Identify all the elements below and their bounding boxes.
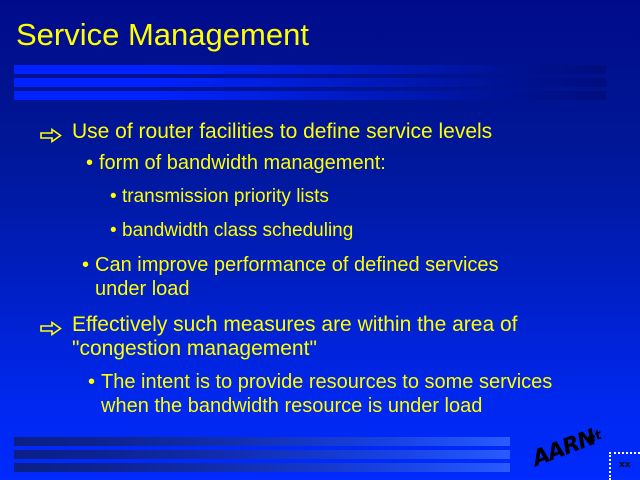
bullet-line-wrap: when the bandwidth resource is under loa… — [101, 394, 482, 418]
bullet-line: transmission priority lists — [122, 185, 329, 208]
bullet-line: bandwidth class scheduling — [122, 219, 353, 242]
decorative-bar — [14, 65, 606, 74]
aarnet-logo: AARN et — [538, 430, 610, 470]
top-decorative-bars — [14, 65, 606, 104]
bullet-line: Effectively such measures are within the… — [72, 312, 518, 337]
decorative-bar — [14, 78, 606, 87]
decorative-bar — [14, 463, 510, 472]
aarnet-logo-sub: et — [585, 428, 604, 447]
decorative-bar — [14, 450, 510, 459]
page-number: xx — [619, 460, 631, 470]
bullet-line: Can improve performance of defined servi… — [95, 253, 499, 277]
arrow-right-icon — [40, 321, 62, 336]
dot-bullet-icon: • — [110, 219, 117, 242]
bottom-decorative-bars — [14, 437, 510, 476]
bullet-line: form of bandwidth management: — [99, 151, 386, 175]
bullet-line-wrap: "congestion management" — [72, 336, 317, 361]
dot-bullet-icon: • — [86, 151, 93, 175]
dot-bullet-icon: • — [88, 370, 95, 394]
bullet-line: Use of router facilities to define servi… — [72, 119, 492, 144]
bullet-line: The intent is to provide resources to so… — [101, 370, 552, 394]
bullet-line-wrap: under load — [95, 277, 190, 301]
dot-bullet-icon: • — [82, 253, 89, 277]
dot-bullet-icon: • — [110, 185, 117, 208]
page-title: Service Management — [16, 17, 309, 53]
decorative-bar — [14, 437, 510, 446]
page-number-box: xx — [609, 452, 640, 480]
arrow-right-icon — [40, 128, 62, 143]
decorative-bar — [14, 91, 606, 100]
aarnet-logo-main: AARN — [529, 425, 599, 472]
slide-canvas: Service Management Use of router facilit… — [0, 0, 640, 480]
